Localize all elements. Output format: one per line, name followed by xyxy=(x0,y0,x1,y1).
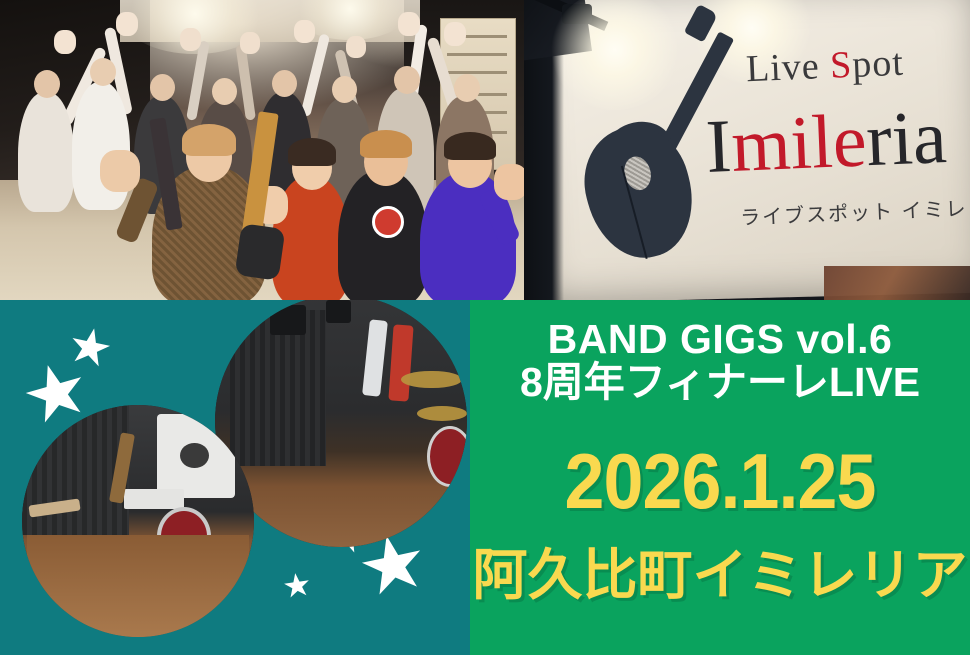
event-title-line2: 8周年フィナーレLIVE xyxy=(470,361,970,404)
sign-brand-mile: mile xyxy=(730,98,868,188)
event-date: 2026.1.25 xyxy=(490,442,950,520)
event-venue: 阿久比町イミレリア xyxy=(470,548,970,603)
star-bottom-small xyxy=(282,571,311,600)
sign-brand-i: I xyxy=(704,104,733,189)
sign-live-word: Live xyxy=(745,45,831,90)
sign-brand-ria: ria xyxy=(865,95,949,182)
star-top-small xyxy=(66,324,113,371)
announcement-panel: BAND GIGS vol.6 8周年フィナーレLIVE 2026.1.25 阿… xyxy=(470,300,970,655)
guitar-body-prop xyxy=(235,223,286,281)
venue-sign-photo: Live Spot Imileria ライブスポット イミレリア xyxy=(524,0,970,300)
event-flyer: Live Spot Imileria ライブスポット イミレリア xyxy=(0,0,970,655)
group-audience-photo xyxy=(0,0,524,300)
sign-pot-letters: pot xyxy=(851,42,904,86)
sign-live-spot-text: Live Spot xyxy=(745,41,905,92)
teal-photo-panel xyxy=(0,300,470,655)
sign-brand-text: Imileria xyxy=(705,99,949,185)
sign-floor-edge xyxy=(824,266,970,300)
event-title: BAND GIGS vol.6 8周年フィナーレLIVE xyxy=(470,318,970,404)
sign-s-letter: S xyxy=(829,44,853,87)
event-title-line1: BAND GIGS vol.6 xyxy=(470,318,970,361)
band-photo-left xyxy=(22,405,254,637)
